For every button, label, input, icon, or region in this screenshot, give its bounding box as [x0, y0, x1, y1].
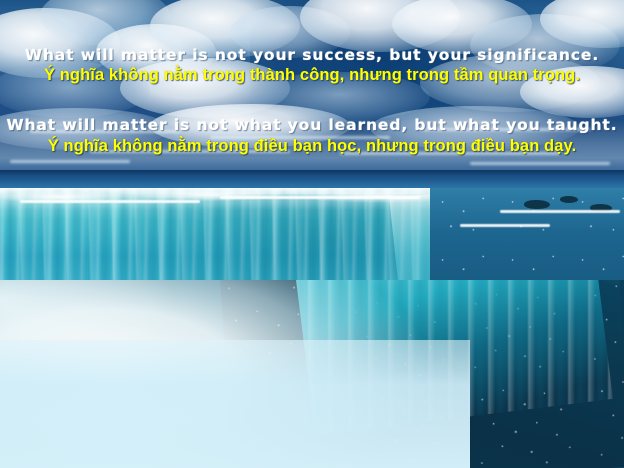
waterfall-basin — [0, 280, 624, 468]
quote-2-vietnamese: Ý nghĩa không nằm trong điều bạn học, nh… — [0, 137, 624, 156]
cloud-strip — [10, 160, 130, 163]
quote-1-vietnamese: Ý nghĩa không nằm trong thành công, nhưn… — [0, 66, 624, 85]
cloud-puff — [40, 0, 170, 46]
crest-foam-line — [20, 200, 200, 203]
slide-canvas: What will matter is not your success, bu… — [0, 0, 624, 468]
crest-foam-line — [220, 196, 420, 199]
foam-line — [460, 224, 550, 227]
rock — [560, 196, 578, 203]
mist-floor — [0, 340, 470, 468]
foam-line — [500, 210, 620, 213]
cloud-strip — [470, 162, 610, 165]
quote-2-english: What will matter is not what you learned… — [0, 116, 624, 134]
rock — [524, 200, 550, 209]
quote-1-english: What will matter is not your success, bu… — [0, 46, 624, 64]
